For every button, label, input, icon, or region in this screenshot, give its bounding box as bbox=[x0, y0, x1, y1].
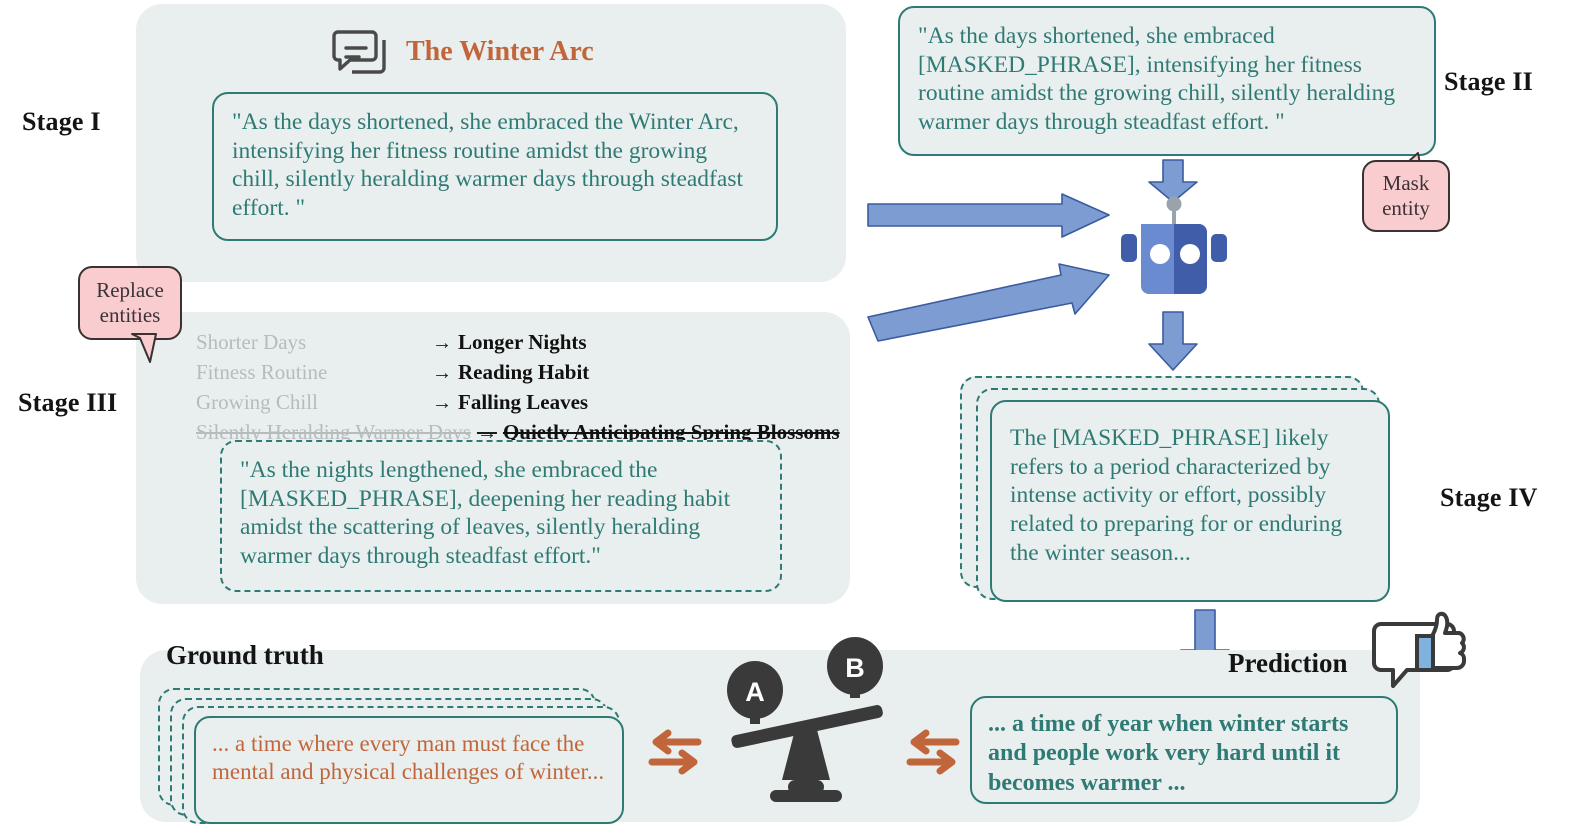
stage-4-label: Stage IV bbox=[1440, 483, 1538, 513]
entity-to: Falling Leaves bbox=[458, 392, 588, 413]
prediction-text: ... a time of year when winter starts an… bbox=[970, 696, 1398, 804]
evaluation-panel: Ground truth ... a time where every man … bbox=[140, 650, 1420, 822]
arrow-icon: → bbox=[432, 393, 458, 413]
speech-bubbles-icon bbox=[332, 26, 394, 84]
stage-1-panel: The Winter Arc "As the days shortened, s… bbox=[136, 4, 846, 282]
stage-2-masked-text: "As the days shortened, she embraced [MA… bbox=[898, 6, 1436, 156]
stage-1-title: The Winter Arc bbox=[406, 36, 594, 68]
ground-truth-label: Ground truth bbox=[166, 640, 324, 671]
entity-from: Growing Chill bbox=[196, 392, 432, 413]
swap-arrows-icon-right bbox=[902, 728, 964, 776]
stage-3-label: Stage III bbox=[18, 388, 117, 418]
thumbs-up-icon bbox=[1373, 612, 1477, 694]
entity-mapping-row: Shorter Days → Longer Nights bbox=[196, 332, 840, 353]
scale-label-b: B bbox=[845, 653, 865, 683]
callout-line-1: Replace entities bbox=[80, 278, 180, 328]
stage-1-source-text: "As the days shortened, she embraced the… bbox=[212, 92, 778, 241]
arrow-icon: → bbox=[432, 363, 458, 383]
replace-entities-callout-text: Replace entities bbox=[78, 266, 182, 340]
scale-label-a: A bbox=[745, 677, 765, 707]
mask-entity-callout-text: Mask entity bbox=[1362, 160, 1450, 232]
replace-entities-callout: Replace entities bbox=[78, 266, 182, 352]
arrow-robot-to-stage4 bbox=[1143, 310, 1203, 372]
prediction-label: Prediction bbox=[1228, 648, 1347, 679]
entity-mapping-row: Fitness Routine → Reading Habit bbox=[196, 362, 840, 383]
robot-icon bbox=[1115, 196, 1233, 296]
arrow-icon: → bbox=[432, 333, 458, 353]
entity-mapping-list: Shorter Days → Longer Nights Fitness Rou… bbox=[196, 332, 840, 443]
stage-3-rewritten-text: "As the nights lengthened, she embraced … bbox=[220, 440, 782, 592]
arrow-stage3-to-robot bbox=[866, 255, 1116, 343]
ground-truth-text: ... a time where every man must face the… bbox=[194, 716, 624, 824]
stage-1-label: Stage I bbox=[22, 107, 101, 137]
entity-from: Fitness Routine bbox=[196, 362, 432, 383]
entity-from: Shorter Days bbox=[196, 332, 432, 353]
balance-scale-icon: A B bbox=[710, 662, 900, 812]
stage-2-label: Stage II bbox=[1444, 67, 1533, 97]
entity-mapping-row: Growing Chill → Falling Leaves bbox=[196, 392, 840, 413]
mask-entity-callout: Mask entity bbox=[1362, 156, 1454, 232]
arrow-stage1-to-robot bbox=[866, 192, 1111, 250]
entity-to: Longer Nights bbox=[458, 332, 587, 353]
stage-4-response-text: The [MASKED_PHRASE] likely refers to a p… bbox=[990, 400, 1390, 602]
swap-arrows-icon-left bbox=[644, 728, 706, 776]
entity-to: Reading Habit bbox=[458, 362, 589, 383]
stage-3-panel: Shorter Days → Longer Nights Fitness Rou… bbox=[136, 312, 850, 604]
